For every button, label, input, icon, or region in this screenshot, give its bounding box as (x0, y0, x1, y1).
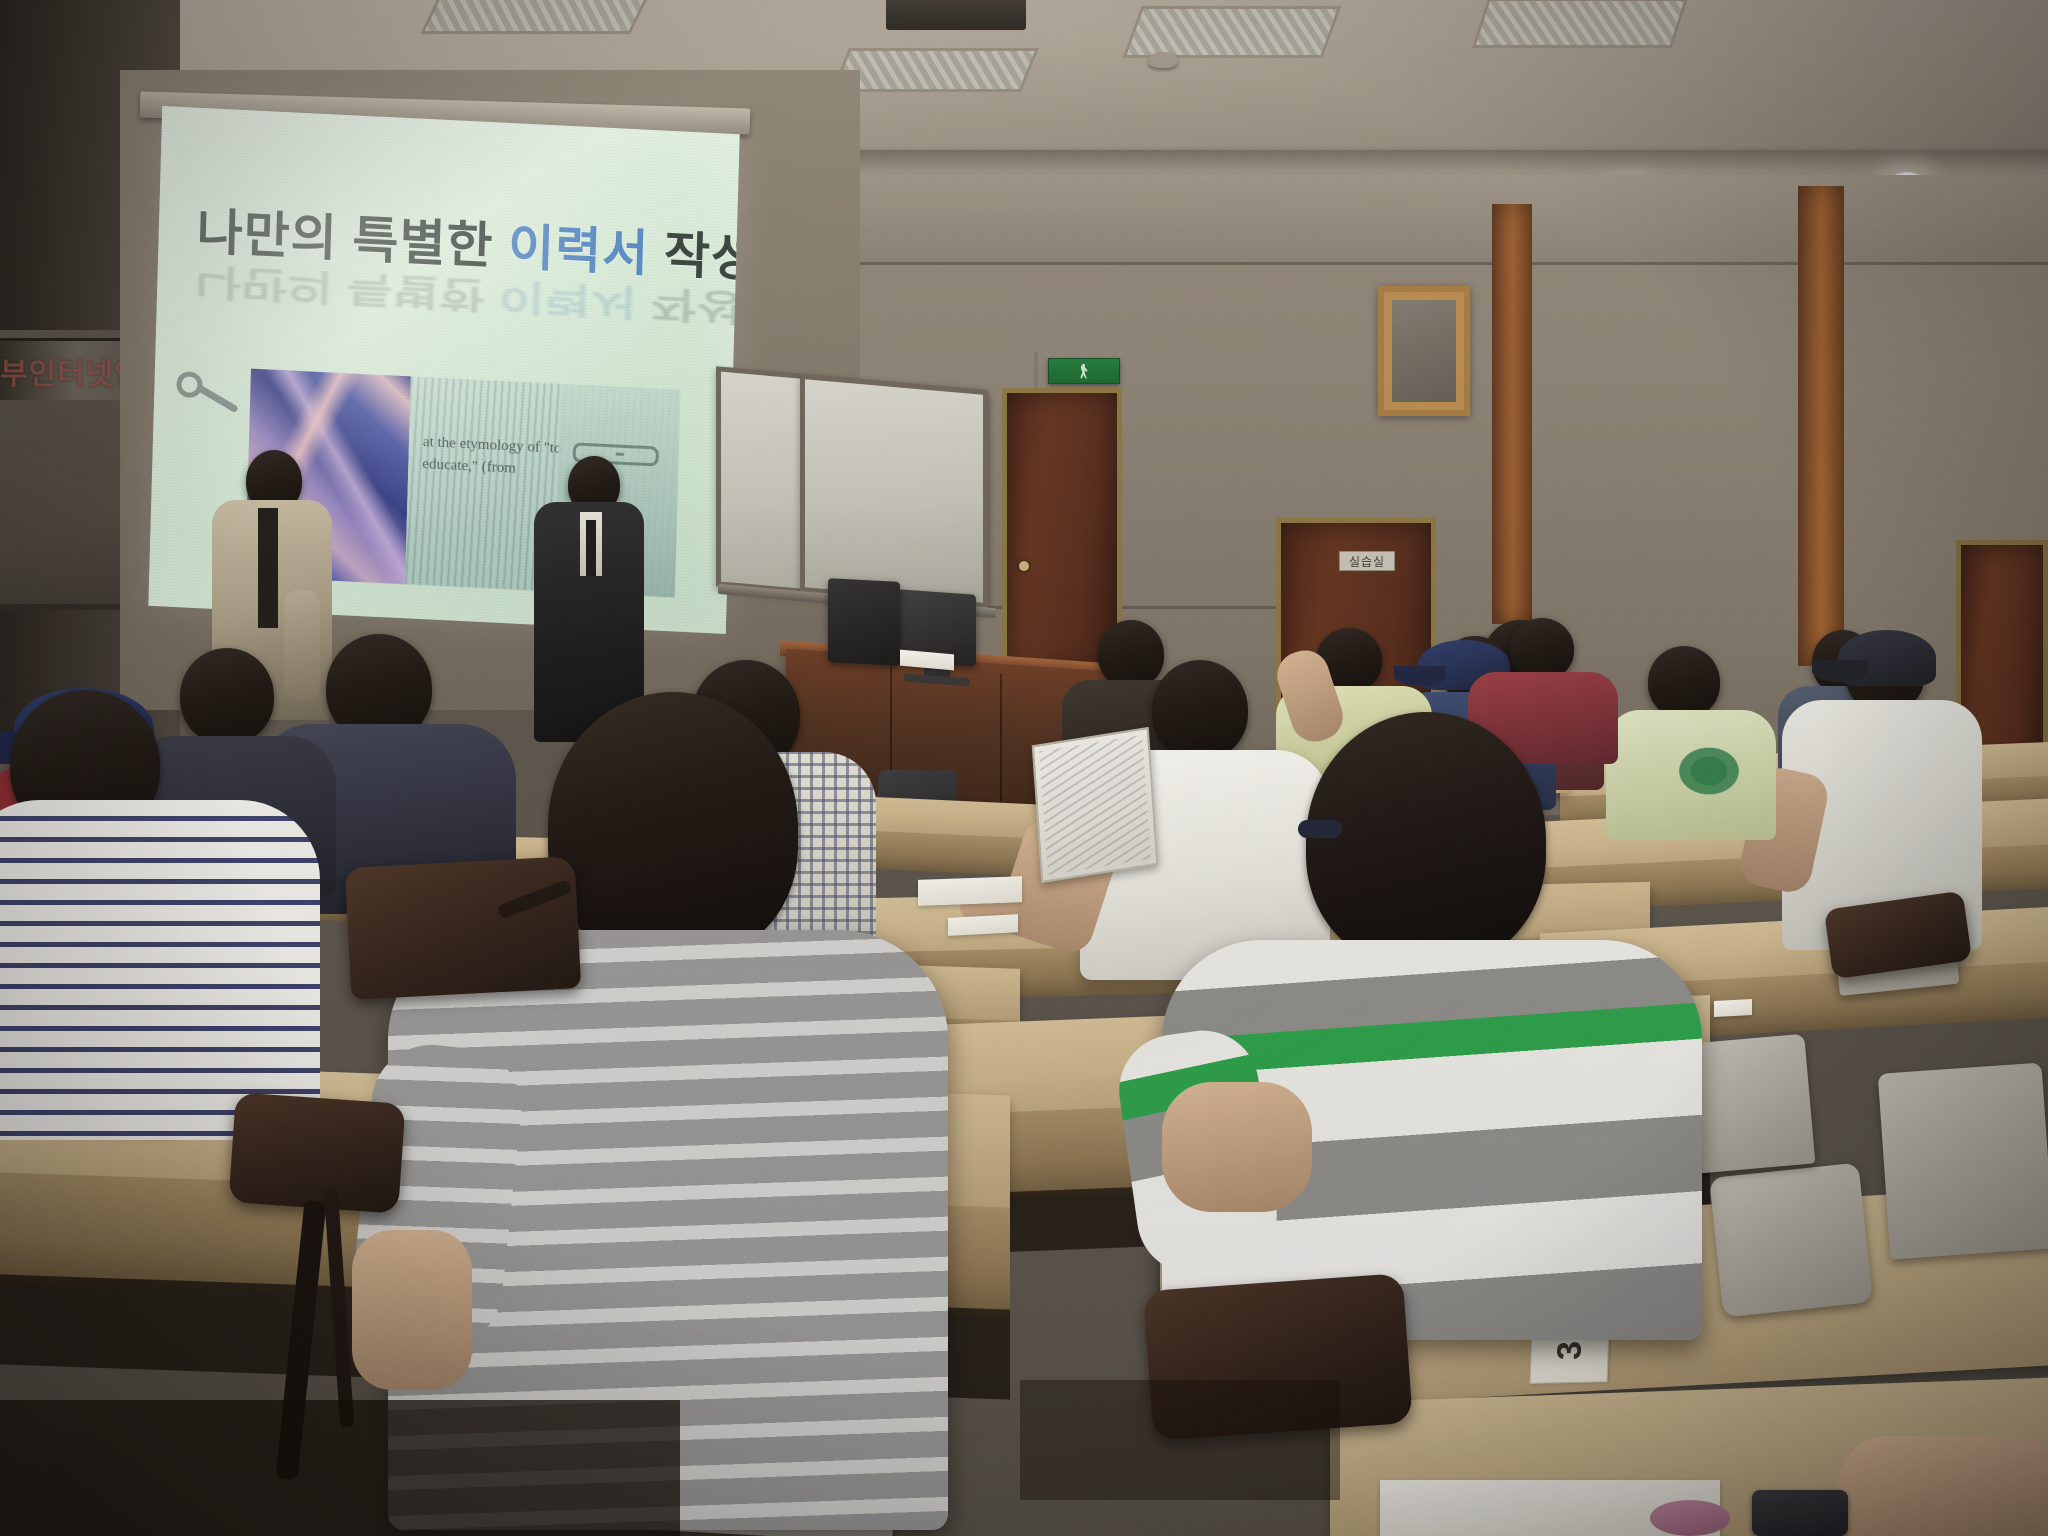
lightbulb-icon (175, 367, 243, 430)
shirt-graphic (1672, 742, 1746, 800)
student-head (548, 692, 798, 960)
ceiling-diffuser-panel (1472, 0, 1688, 48)
student-arm-skin (1162, 1082, 1312, 1212)
student-head (1648, 646, 1720, 718)
hand-foreground (1838, 1436, 2048, 1536)
podium-crt-monitor[interactable] (828, 578, 900, 666)
assistant-tie (586, 520, 596, 576)
chair-right-front[interactable] (1878, 1063, 2048, 1260)
presenter-shirt-tie (258, 508, 278, 628)
paper-small (948, 914, 1018, 936)
wood-column (1492, 204, 1532, 624)
student-head (1152, 660, 1248, 760)
student-arm-skin (352, 1230, 472, 1390)
wall-picture-inner (1392, 300, 1456, 402)
chair-right-mid[interactable] (1709, 1163, 1873, 1318)
leather-bag-upper (345, 856, 582, 1000)
cap-brim (1394, 666, 1446, 686)
ceiling-diffuser-panel (1123, 6, 1342, 58)
student-head (1510, 618, 1574, 680)
baseball-cap (1838, 630, 1936, 686)
eyeglasses-icon (1298, 820, 1342, 838)
ceiling-diffuser-panel (420, 0, 650, 34)
pink-object (1650, 1500, 1730, 1536)
paper-small (1714, 999, 1752, 1017)
smoke-detector-icon (1148, 52, 1178, 68)
door-room-plate: 실습실 (1339, 551, 1395, 571)
presenter-arm (284, 590, 320, 700)
running-man-icon (1079, 364, 1089, 379)
student-head (1098, 620, 1164, 688)
camera-bag (228, 1092, 405, 1214)
ceiling-diffuser-panel (831, 48, 1039, 92)
reflection-part2: 작성법 (636, 282, 740, 330)
front-whiteboard-right (800, 374, 988, 608)
wood-column (1798, 186, 1844, 666)
desk-paper (918, 876, 1022, 906)
cap-brim (1812, 660, 1868, 682)
wall-picture-frame (1378, 286, 1470, 416)
reflection-highlight: 이력서 (498, 276, 637, 323)
open-laptop[interactable] (1032, 727, 1159, 883)
floor-shadow-left (0, 1400, 680, 1536)
student-head (180, 648, 274, 744)
bag-strap (497, 879, 573, 919)
floor-shadow-center (1020, 1380, 1340, 1500)
cabinet-door-seam (1000, 674, 1002, 802)
slide-title-highlight: 이력서 (507, 219, 649, 282)
mobile-phone[interactable] (1752, 1490, 1848, 1536)
door-knob-icon (1019, 561, 1029, 571)
student-head (1306, 712, 1546, 968)
ceiling-air-vent (886, 0, 1026, 30)
student-polo (0, 800, 320, 1140)
emergency-exit-icon (1048, 358, 1120, 384)
lecture-hall-photo: 부인터넷안실 나만의 특별한 이력서 작성법 나만의 특별한 이력서 작성법 a… (0, 0, 2048, 1536)
laptop-screen (1039, 735, 1151, 875)
